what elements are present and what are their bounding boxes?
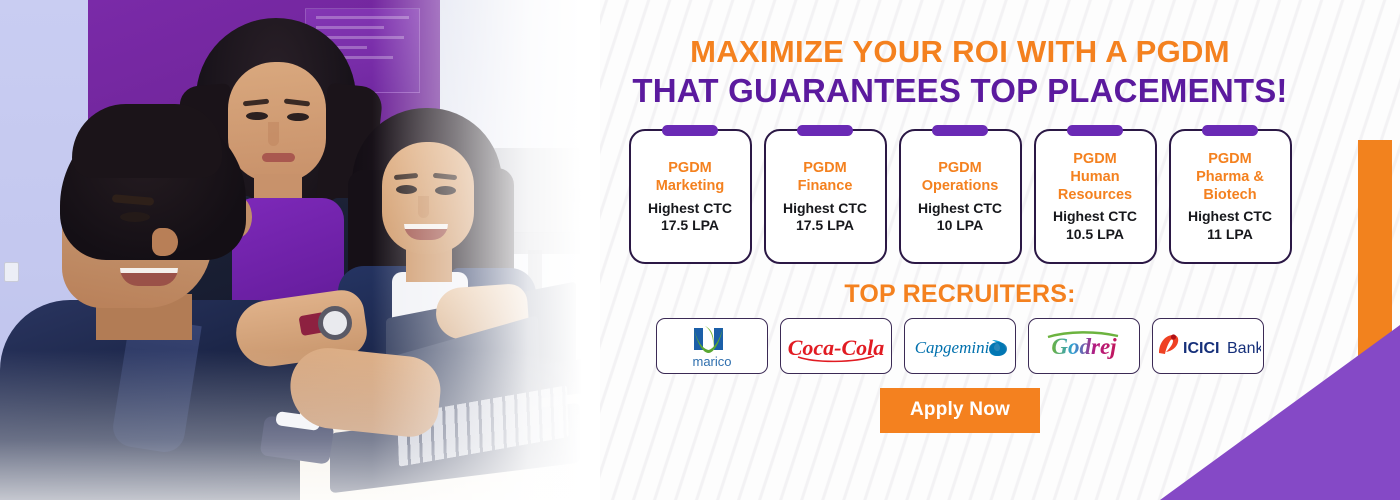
capgemini-logo-icon: Capgemini	[908, 326, 1012, 366]
program-name-line-1: PGDM	[922, 160, 999, 178]
program-card-marketing[interactable]: PGDM Marketing Highest CTC 17.5 LPA	[629, 129, 752, 264]
wristwatch	[318, 306, 352, 340]
card-notch-icon	[1202, 125, 1258, 136]
card-notch-icon	[662, 125, 718, 136]
program-ctc: Highest CTC 10.5 LPA	[1053, 208, 1137, 242]
coca-cola-logo-icon: Coca-Cola	[786, 324, 886, 368]
headline-line-2: THAT GUARANTEES TOP PLACEMENTS!	[580, 73, 1340, 110]
cta-wrapper: Apply Now	[580, 388, 1340, 433]
female-student-eye-left	[396, 185, 417, 194]
svg-text:Capgemini: Capgemini	[915, 338, 990, 357]
wall-socket	[4, 262, 19, 282]
mentor-mouth	[262, 153, 295, 162]
program-name: PGDM Pharma & Biotech	[1196, 151, 1264, 204]
program-ctc: Highest CTC 10 LPA	[918, 200, 1002, 234]
program-card-finance[interactable]: PGDM Finance Highest CTC 17.5 LPA	[764, 129, 887, 264]
logo-coca-cola[interactable]: Coca-Cola	[780, 318, 892, 374]
program-name-line-3: Resources	[1058, 187, 1132, 205]
ctc-value: 10 LPA	[918, 217, 1002, 234]
program-name-line-1: PGDM	[798, 160, 853, 178]
headline: MAXIMIZE YOUR ROI WITH A PGDM THAT GUARA…	[580, 0, 1340, 110]
marico-logo-icon: marico	[664, 322, 760, 370]
card-notch-icon	[1067, 125, 1123, 136]
students-photo	[0, 0, 600, 500]
program-card-operations[interactable]: PGDM Operations Highest CTC 10 LPA	[899, 129, 1022, 264]
program-name-line-1: PGDM	[1058, 151, 1132, 169]
male-student-smile	[120, 268, 178, 286]
program-name-line-2: Operations	[922, 178, 999, 196]
program-ctc: Highest CTC 17.5 LPA	[783, 200, 867, 234]
ctc-label: Highest CTC	[1188, 208, 1272, 225]
logo-godrej[interactable]: Godrej	[1028, 318, 1140, 374]
program-cards: PGDM Marketing Highest CTC 17.5 LPA PGDM…	[580, 129, 1340, 264]
program-name-line-2: Pharma &	[1196, 169, 1264, 187]
male-student-eye	[120, 212, 150, 222]
mentor-nose	[268, 122, 279, 146]
ctc-value: 11 LPA	[1188, 226, 1272, 243]
promo-banner: MAXIMIZE YOUR ROI WITH A PGDM THAT GUARA…	[0, 0, 1400, 500]
ctc-value: 17.5 LPA	[783, 217, 867, 234]
ctc-label: Highest CTC	[648, 200, 732, 217]
female-student-eye-right	[435, 186, 456, 195]
icici-bank-logo-icon: ICICI Bank	[1155, 329, 1261, 363]
program-card-human-resources[interactable]: PGDM Human Resources Highest CTC 10.5 LP…	[1034, 129, 1157, 264]
male-student-hair-top	[72, 104, 222, 178]
program-name-line-3: Biotech	[1196, 187, 1264, 205]
ctc-value: 10.5 LPA	[1053, 226, 1137, 243]
logo-marico[interactable]: marico	[656, 318, 768, 374]
godrej-logo-icon: Godrej	[1034, 325, 1134, 367]
program-name: PGDM Operations	[922, 160, 999, 195]
program-name-line-2: Finance	[798, 178, 853, 196]
ctc-value: 17.5 LPA	[648, 217, 732, 234]
ctc-label: Highest CTC	[1053, 208, 1137, 225]
svg-text:Godrej: Godrej	[1051, 334, 1117, 359]
program-name-line-2: Human	[1058, 169, 1132, 187]
program-name: PGDM Human Resources	[1058, 151, 1132, 204]
recruiters-title: TOP RECRUITERS:	[580, 280, 1340, 309]
logo-capgemini[interactable]: Capgemini	[904, 318, 1016, 374]
mentor-eye-right	[287, 113, 309, 121]
program-name-line-2: Marketing	[656, 178, 725, 196]
headline-line-1: MAXIMIZE YOUR ROI WITH A PGDM	[580, 36, 1340, 69]
apply-now-button[interactable]: Apply Now	[880, 388, 1040, 433]
program-ctc: Highest CTC 17.5 LPA	[648, 200, 732, 234]
recruiter-logos: marico Coca-Cola Capgemini	[580, 318, 1340, 374]
female-student-nose	[418, 196, 429, 218]
male-student-nose	[152, 228, 178, 256]
svg-text:marico: marico	[692, 354, 731, 369]
logo-icici-bank[interactable]: ICICI Bank	[1152, 318, 1264, 374]
mentor-eye-left	[246, 112, 268, 120]
program-ctc: Highest CTC 11 LPA	[1188, 208, 1272, 242]
card-notch-icon	[797, 125, 853, 136]
svg-text:Bank: Bank	[1227, 340, 1261, 357]
ctc-label: Highest CTC	[918, 200, 1002, 217]
program-name-line-1: PGDM	[656, 160, 725, 178]
program-name-line-1: PGDM	[1196, 151, 1264, 169]
content-column: MAXIMIZE YOUR ROI WITH A PGDM THAT GUARA…	[580, 0, 1340, 500]
svg-text:Coca-Cola: Coca-Cola	[788, 335, 885, 360]
program-name: PGDM Marketing	[656, 160, 725, 195]
ctc-label: Highest CTC	[783, 200, 867, 217]
program-card-pharma-biotech[interactable]: PGDM Pharma & Biotech Highest CTC 11 LPA	[1169, 129, 1292, 264]
svg-text:ICICI: ICICI	[1183, 340, 1219, 357]
program-name: PGDM Finance	[798, 160, 853, 195]
card-notch-icon	[932, 125, 988, 136]
